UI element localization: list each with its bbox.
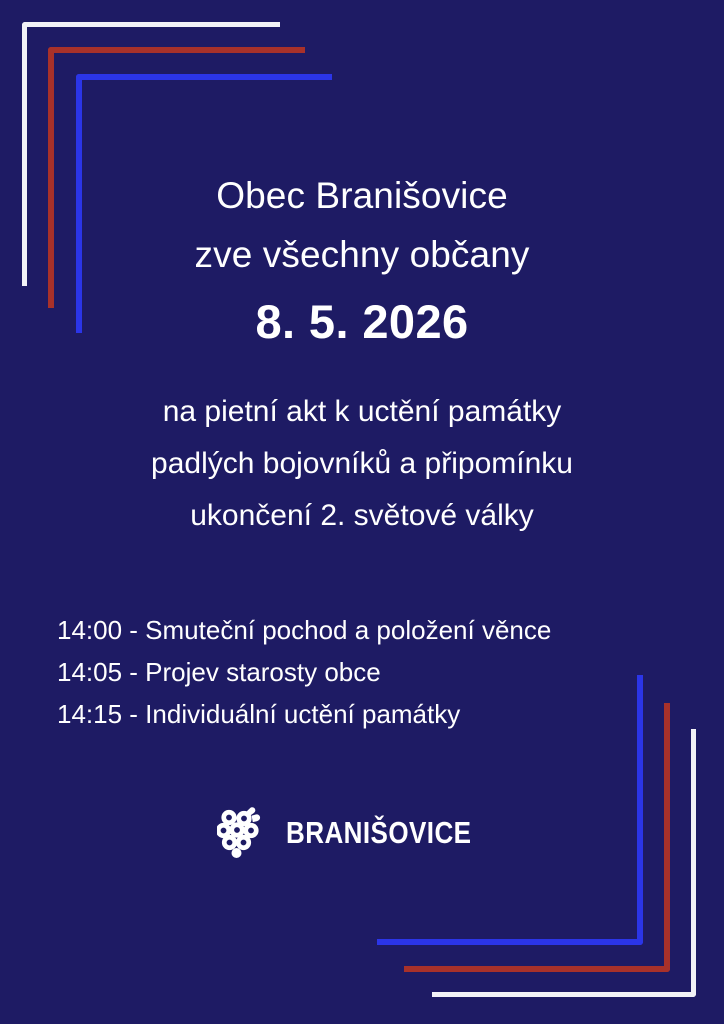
poster-content: Obec Branišovice zve všechny občany 8. 5…	[0, 0, 724, 1024]
description-line-3: ukončení 2. světové války	[0, 490, 724, 542]
schedule-item: 14:00 - Smuteční pochod a položení věnce	[57, 609, 551, 651]
description-line-1: na pietní akt k uctění památky	[0, 386, 724, 438]
municipality-logo: BRANIŠOVICE	[0, 806, 724, 858]
schedule-item: 14:05 - Projev starosty obce	[57, 651, 551, 693]
poster-canvas: Obec Branišovice zve všechny občany 8. 5…	[0, 0, 724, 1024]
schedule-item: 14:15 - Individuální uctění památky	[57, 693, 551, 735]
headline-line-2: zve všechny občany	[0, 225, 724, 284]
description-line-2: padlých bojovníků a připomínku	[0, 438, 724, 490]
headline-block: Obec Branišovice zve všechny občany 8. 5…	[0, 166, 724, 354]
headline-line-1: Obec Branišovice	[0, 166, 724, 225]
description-block: na pietní akt k uctění památky padlých b…	[0, 386, 724, 542]
grape-cluster-icon	[217, 806, 273, 858]
schedule-list: 14:00 - Smuteční pochod a položení věnce…	[57, 609, 551, 735]
logo-wordmark: BRANIŠOVICE	[286, 817, 471, 848]
event-date: 8. 5. 2026	[0, 290, 724, 354]
